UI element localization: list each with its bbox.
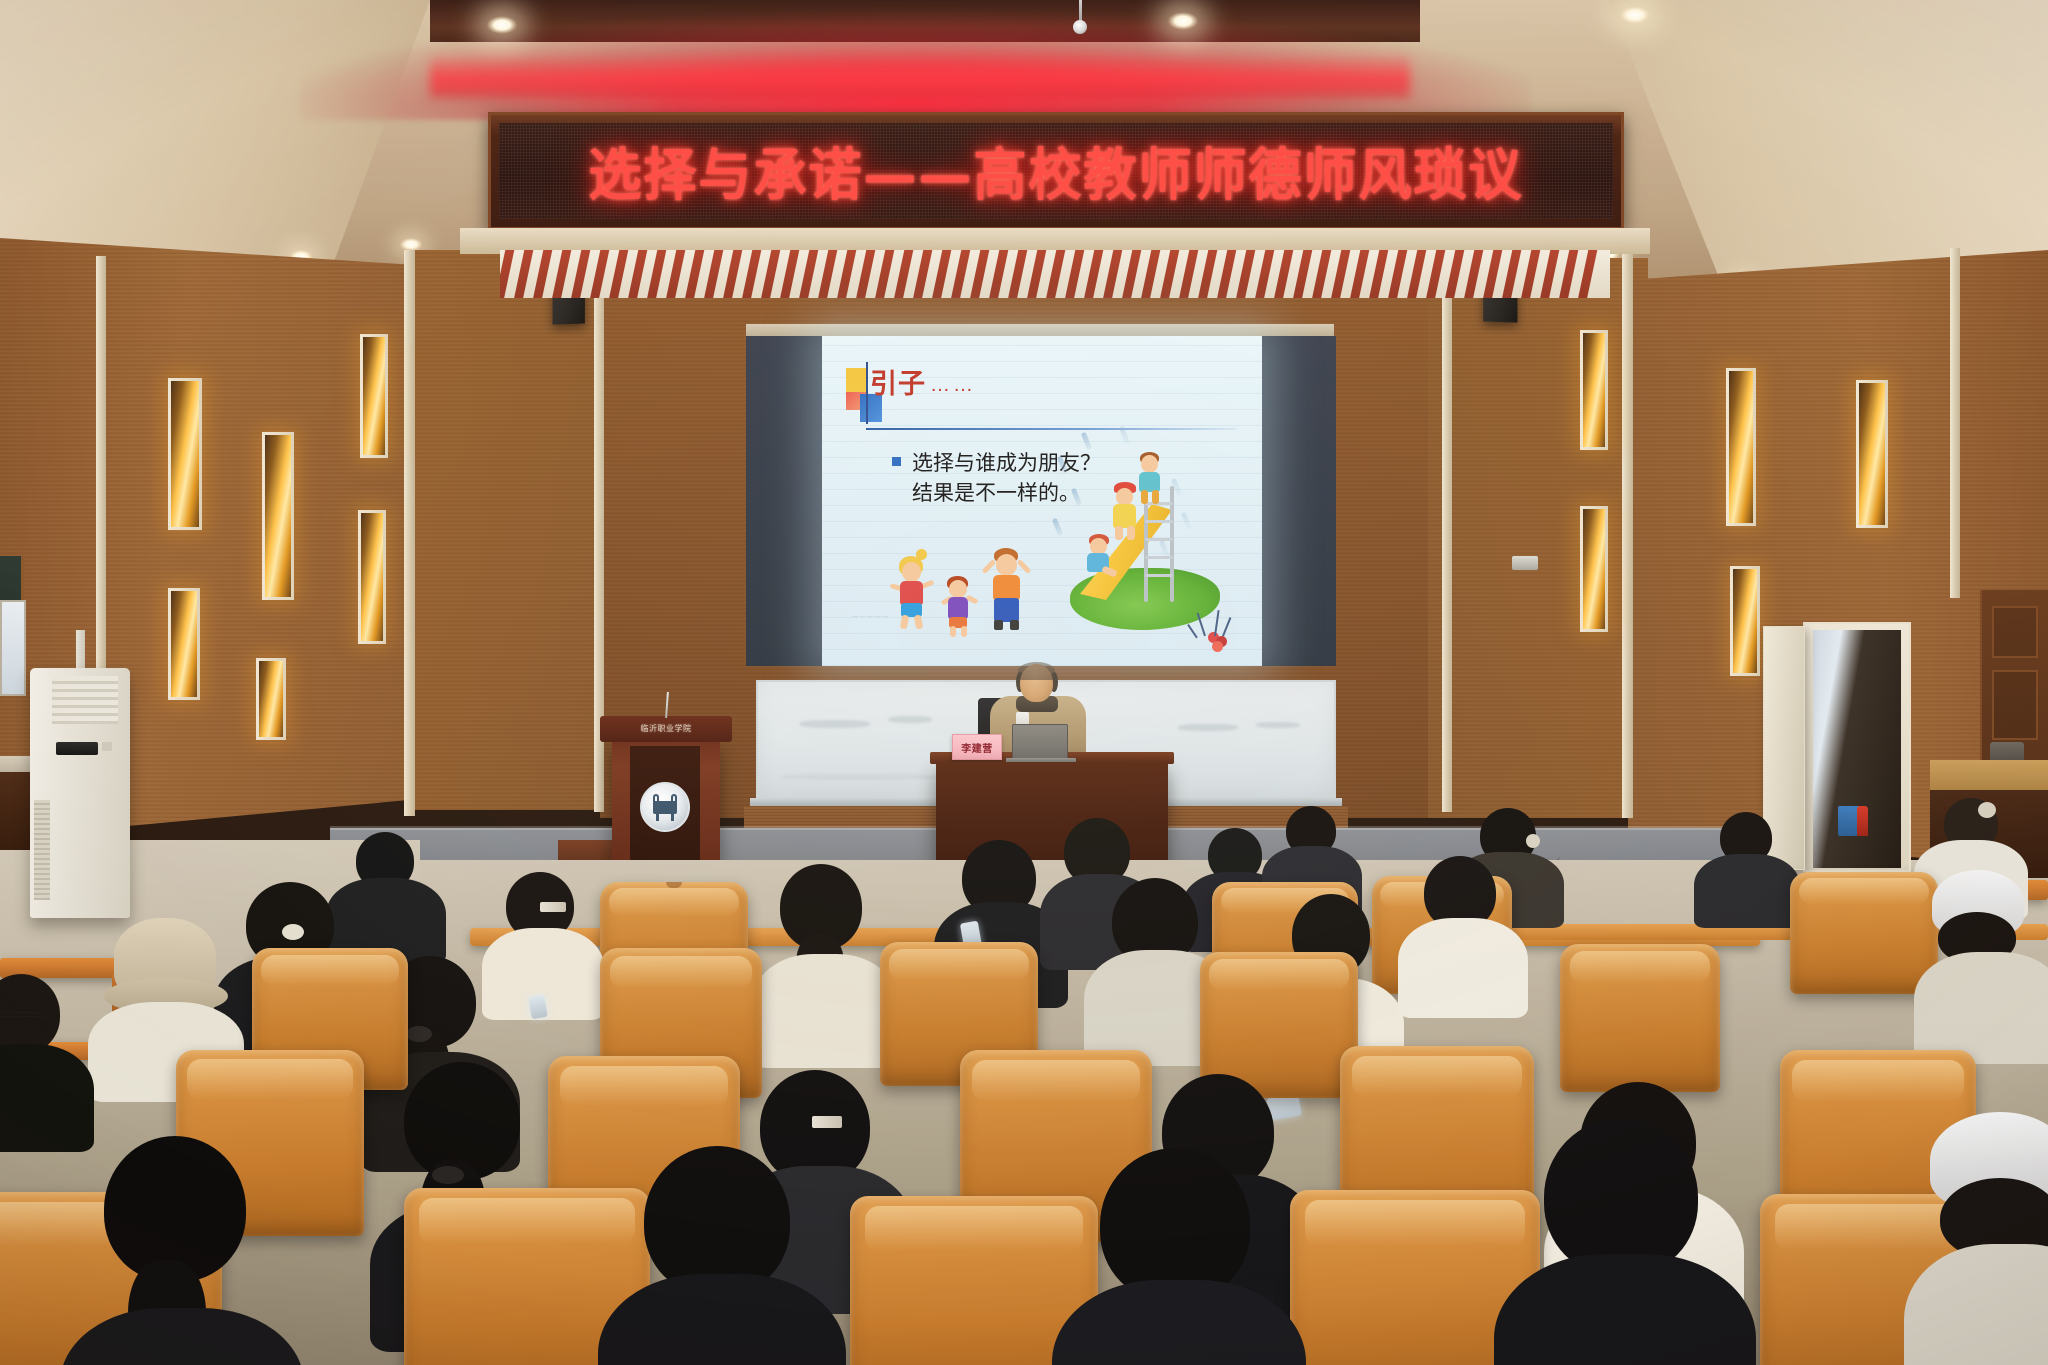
wall-light-niche [360,334,388,458]
projection-screen: 引子 …… 选择与谁成为朋友？ 结果是不一样的。 [822,336,1262,666]
screen-side-panel-left [746,336,824,666]
ceiling-slat [1501,250,1522,298]
ceiling-slat [1235,250,1256,298]
ceiling-slat [1425,250,1446,298]
slide-divider-rule [866,428,1236,430]
ceiling-downlight [1620,6,1650,24]
ceiling-slat [1197,250,1218,298]
ceiling-slat [779,250,800,298]
slide-bullet-row: 选择与谁成为朋友？ 结果是不一样的。 [892,448,1101,509]
ac-display-panel[interactable] [56,742,98,755]
ceiling-slat [1444,250,1465,298]
ceiling-downlight [487,16,517,34]
lecture-hall-photo: 选择与承诺——高校教师师德师风琐议 引子 …… 选择与谁成为朋友？ 结果是不一样… [0,0,2048,1365]
ceiling-slat [532,250,553,298]
speaker-name-card: 李建营 [952,734,1002,760]
ceiling-slat [551,250,572,298]
slide-title-dots: …… [930,374,976,401]
ac-indicator-light [102,742,112,751]
wall-panel-mid-left [410,250,610,810]
left-window [0,600,26,696]
ceiling-slat [513,250,534,298]
wall-light-niche [1856,380,1888,528]
ceiling-slat [817,250,838,298]
led-banner-screen: 选择与承诺——高校教师师德师风琐议 [499,123,1613,219]
ceiling-slat [1368,250,1389,298]
wall-light-niche [1726,368,1756,526]
ceiling-slat [1406,250,1427,298]
wall-panel-mid-right [1428,258,1648,818]
ceiling-slat [1558,250,1579,298]
ceiling-slat [1121,250,1142,298]
ceiling-slat [589,250,610,298]
ceiling-slat [1520,250,1541,298]
ceiling-slat [1045,250,1066,298]
clipart-child-small [940,576,978,636]
ceiling-slat [1463,250,1484,298]
ceiling-slat [836,250,857,298]
ceiling-slat [1007,250,1028,298]
ceiling-slat [1083,250,1104,298]
slide-watermark: — — — — — [852,614,889,620]
wall-light-niche [1580,506,1608,632]
ceiling-slat [874,250,895,298]
ceiling-slat [646,250,667,298]
ceiling-downlight [1168,12,1198,30]
wall-light-niche [358,510,386,644]
ceiling-slat [950,250,971,298]
podium-plaque-text: 临沂职业学院 [608,720,724,737]
ceiling-slat [931,250,952,298]
wall-pilaster [1622,252,1633,818]
ceiling-slat [988,250,1009,298]
laptop-screen [1012,724,1068,760]
screen-side-panel-right [1258,336,1336,666]
wall-light-niche [168,588,200,700]
ceiling-slat [608,250,629,298]
ceiling-slat [627,250,648,298]
auditorium-seat[interactable] [1560,944,1720,1092]
ceiling-slat [1254,250,1275,298]
wall-light-niche [168,378,202,530]
ceiling-slat-band [500,250,1610,298]
ceiling-slat [1349,250,1370,298]
led-banner-frame: 选择与承诺——高校教师师德师风琐议 [488,112,1624,230]
auditorium-seat[interactable] [1790,872,1938,994]
clipart-child-red-cap [1110,482,1146,542]
wall-light-niche [1580,330,1608,450]
ceiling-slat [703,250,724,298]
ac-louver-grille [52,676,118,724]
ceiling-slat [665,250,686,298]
clipart-child-girl [890,558,934,630]
ceiling-slat [1102,250,1123,298]
ceiling-slat [760,250,781,298]
wall-light-niche [262,432,294,600]
ceiling-slat [798,250,819,298]
slide-bullet-marker [892,457,901,466]
ceiling-slat [1178,250,1199,298]
pendant-mic-head [1073,20,1087,34]
ceiling-slat [893,250,914,298]
ceiling-slat [570,250,591,298]
ac-side-vent [34,800,50,900]
slide-body-text: 选择与谁成为朋友？ 结果是不一样的。 [912,448,1101,509]
fire-extinguisher [1857,806,1868,836]
ceiling-slat [741,250,762,298]
ceiling-slat [912,250,933,298]
ceiling-slat [1387,250,1408,298]
led-banner-text: 选择与承诺——高校教师师德师风琐议 [589,131,1524,212]
clipart-child-sliding [1084,534,1118,586]
ceiling-slat [1292,250,1313,298]
slide-title: 引子 [870,362,926,401]
ceiling-slat [969,250,990,298]
ceiling-slat [855,250,876,298]
audience-area [0,900,2048,1365]
ceiling-slat [1577,250,1598,298]
podium-emblem-icon [640,782,690,832]
ceiling-slat [1216,250,1237,298]
ceiling-slat [1539,250,1560,298]
ceiling-slat [722,250,743,298]
ceiling-slat [1311,250,1332,298]
wall-pilaster [404,250,415,816]
wall-light-niche [1730,566,1760,676]
wall-light-niche [256,658,286,740]
wall-pilaster [1442,256,1452,812]
wall-pilaster [1950,248,1960,598]
ceiling-projector [1512,556,1538,570]
ac-pipe [76,630,85,672]
ceiling-slat [1330,250,1351,298]
ceiling-slat [500,250,515,298]
red-cove-light-core [430,52,1410,98]
ceiling-slat [1482,250,1503,298]
ceiling-slat [1064,250,1085,298]
clipart-flower-sprig [1184,608,1240,654]
clipart-child-boy [982,548,1032,630]
ceiling-slat [1026,250,1047,298]
ceiling-slat [684,250,705,298]
speaker-hair-top [1018,662,1055,680]
ceiling-slat [1140,250,1161,298]
ceiling-slat [1273,250,1294,298]
ceiling-slat [1159,250,1180,298]
slide-title-row: 引子 …… [870,362,976,401]
